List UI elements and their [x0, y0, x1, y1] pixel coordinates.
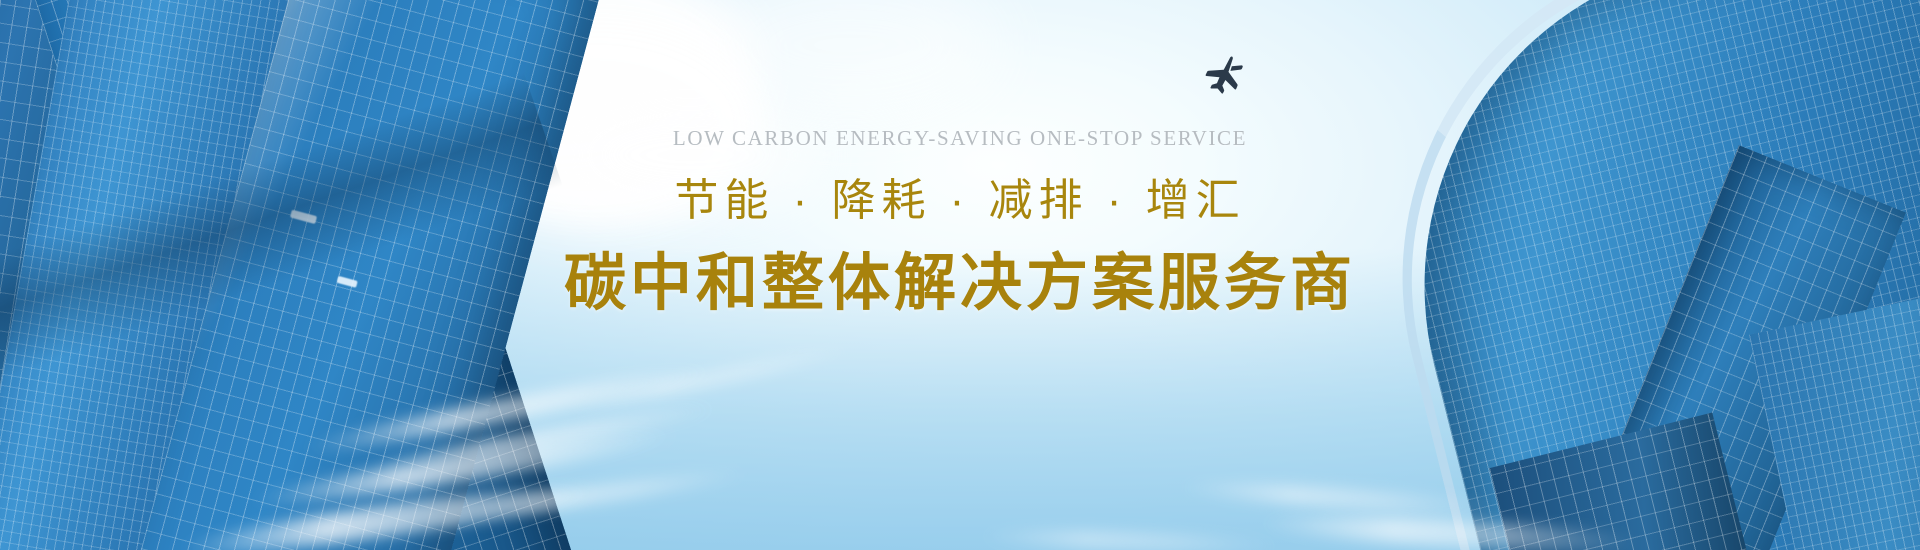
banner-eyebrow: LOW CARBON ENERGY-SAVING ONE-STOP SERVIC… — [0, 126, 1920, 151]
hero-banner: LOW CARBON ENERGY-SAVING ONE-STOP SERVIC… — [0, 0, 1920, 550]
banner-subheadline: 节能 · 降耗 · 减排 · 增汇 — [0, 173, 1920, 228]
banner-headline: 碳中和整体解决方案服务商 — [0, 246, 1920, 322]
hero-copy: LOW CARBON ENERGY-SAVING ONE-STOP SERVIC… — [0, 126, 1920, 322]
